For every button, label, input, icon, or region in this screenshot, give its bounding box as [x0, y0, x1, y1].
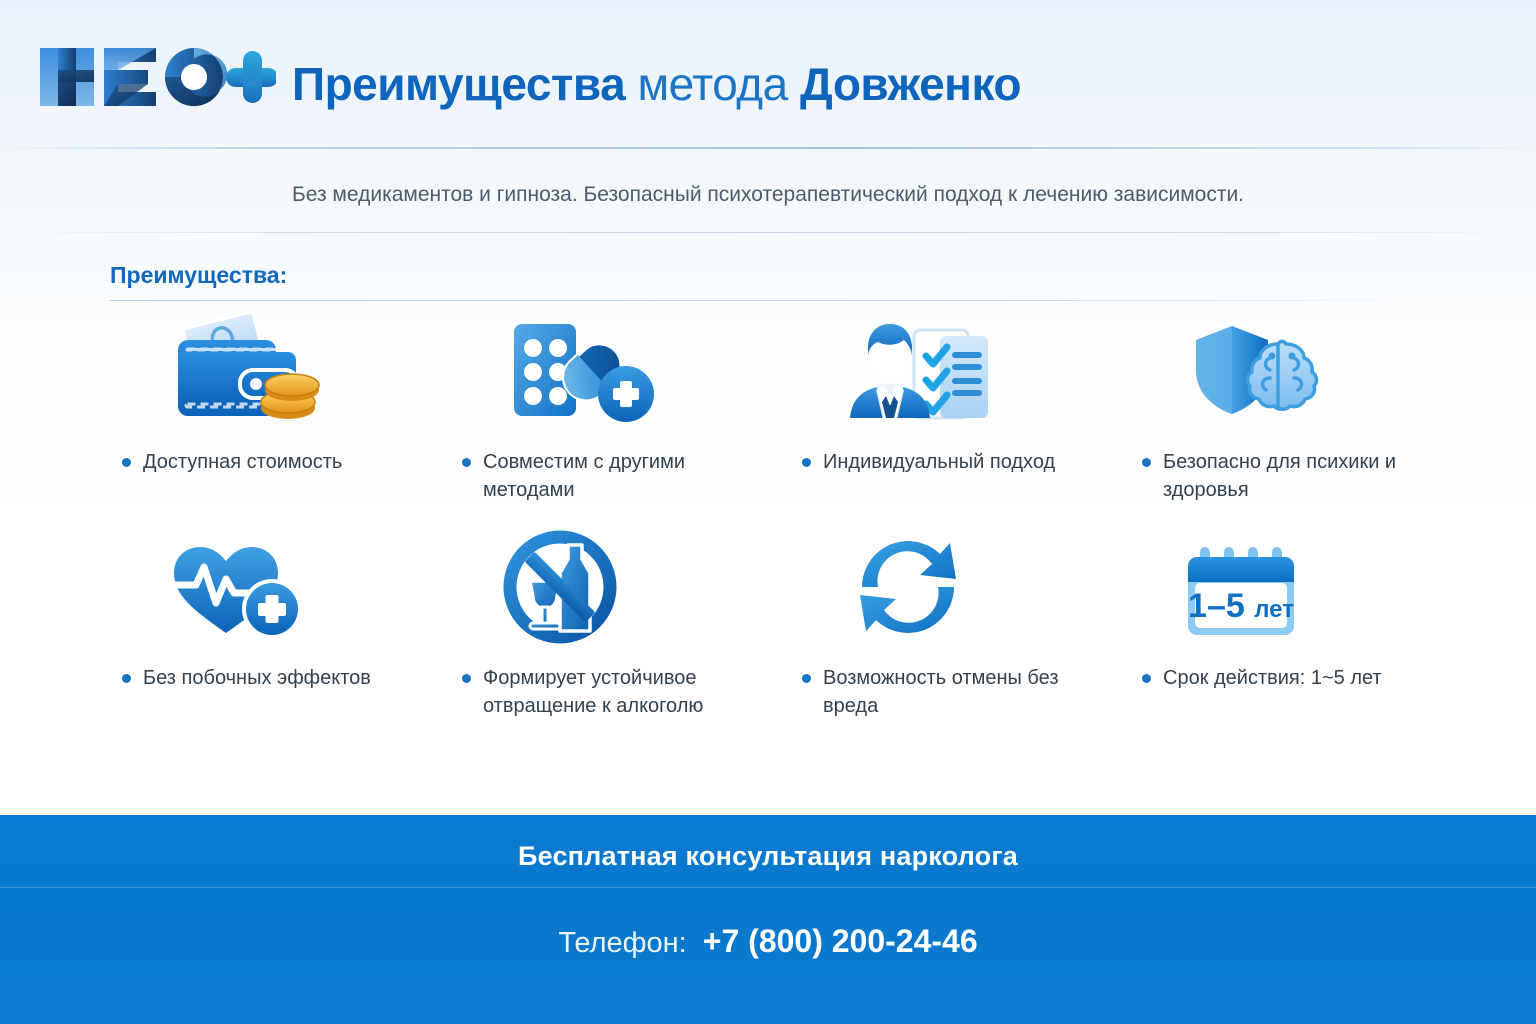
benefit-item: Доступная стоимость — [96, 310, 436, 476]
benefits-row-2: Без побочных эффектов — [96, 528, 1456, 720]
title-word-advantages: Преимущества — [292, 58, 625, 110]
footer-heading: Бесплатная консультация нарколога — [0, 841, 1536, 872]
bullet-icon — [1142, 458, 1151, 467]
benefit-label: Индивидуальный подход — [776, 430, 1116, 476]
section-title: Преимущества: — [110, 262, 287, 289]
bullet-icon — [1142, 674, 1151, 683]
calendar-years-icon: 1–5 лет — [1116, 528, 1456, 646]
benefit-item: Без побочных эффектов — [96, 528, 436, 692]
phone-number[interactable]: +7 (800) 200-24-46 — [703, 923, 978, 959]
footer-phone: Телефон: +7 (800) 200-24-46 — [0, 923, 1536, 960]
subtitle: Без медикаментов и гипноза. Безопасный п… — [0, 180, 1536, 210]
shield-brain-icon — [1116, 310, 1456, 430]
neo-plus-logo — [36, 44, 276, 110]
benefit-text: Формирует устойчивое отвращение к алкого… — [483, 664, 768, 720]
header: Преимущества метода Довженко — [0, 0, 1536, 148]
page-title: Преимущества метода Довженко — [292, 58, 1021, 110]
benefit-label: Совместим с другими методами — [436, 430, 776, 504]
cycle-arrows-icon — [776, 528, 1116, 646]
heart-pulse-plus-icon — [96, 528, 436, 646]
benefit-text: Совместим с другими методами — [483, 448, 768, 504]
bullet-icon — [122, 674, 131, 683]
pills-capsule-plus-icon — [436, 310, 776, 430]
header-divider — [0, 147, 1536, 149]
bullet-icon — [802, 458, 811, 467]
wallet-coins-icon — [96, 310, 436, 430]
benefit-item: Индивидуальный подход — [776, 310, 1116, 476]
footer-cta: Бесплатная консультация нарколога Телефо… — [0, 815, 1536, 1024]
benefit-label: Срок действия: 1~5 лет — [1116, 646, 1456, 692]
bullet-icon — [462, 674, 471, 683]
benefit-item: Возможность отмены без вреда — [776, 528, 1116, 720]
bullet-icon — [462, 458, 471, 467]
benefit-label: Доступная стоимость — [96, 430, 436, 476]
section-header: Преимущества: — [110, 262, 1450, 302]
benefits-grid: Доступная стоимость — [96, 310, 1456, 720]
benefits-row-1: Доступная стоимость — [96, 310, 1456, 504]
benefit-item: Совместим с другими методами — [436, 310, 776, 504]
benefit-label: Возможность отмены без вреда — [776, 646, 1116, 720]
infographic-poster: Преимущества метода Довженко Без медикам… — [0, 0, 1536, 1024]
benefit-item: 1–5 лет Срок действия: 1~5 лет — [1116, 528, 1456, 692]
benefit-text: Срок действия: 1~5 лет — [1163, 664, 1382, 692]
section-divider — [110, 300, 1450, 301]
bullet-icon — [802, 674, 811, 683]
benefit-text: Без побочных эффектов — [143, 664, 371, 692]
no-alcohol-icon — [436, 528, 776, 646]
neo-plus-logo-icon — [36, 44, 276, 110]
doctor-checklist-icon — [776, 310, 1116, 430]
footer-divider — [0, 887, 1536, 888]
benefit-item: Безопасно для психики и здоровья — [1116, 310, 1456, 504]
title-word-dovzhenko: Довженко — [800, 58, 1021, 110]
benefit-text: Возможность отмены без вреда — [823, 664, 1108, 720]
benefit-label: Безопасно для психики и здоровья — [1116, 430, 1456, 504]
subtitle-divider — [0, 232, 1536, 233]
phone-label: Телефон: — [558, 927, 686, 959]
benefit-text: Индивидуальный подход — [823, 448, 1055, 476]
title-word-method: метода — [637, 58, 787, 110]
benefit-label: Без побочных эффектов — [96, 646, 436, 692]
benefit-label: Формирует устойчивое отвращение к алкого… — [436, 646, 776, 720]
bullet-icon — [122, 458, 131, 467]
benefit-item: Формирует устойчивое отвращение к алкого… — [436, 528, 776, 720]
benefit-text: Безопасно для психики и здоровья — [1163, 448, 1448, 504]
benefit-text: Доступная стоимость — [143, 448, 342, 476]
